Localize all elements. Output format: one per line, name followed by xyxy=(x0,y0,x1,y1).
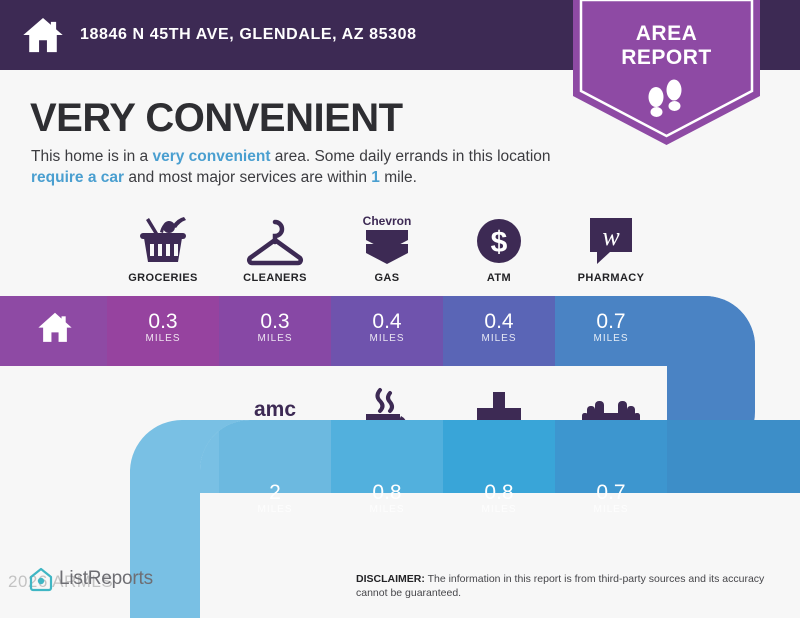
ribbon-segment xyxy=(331,288,443,368)
intro-highlight-1: very convenient xyxy=(152,148,270,165)
ribbon-segment xyxy=(555,288,667,368)
disclaimer-label: DISCLAIMER: xyxy=(356,573,425,585)
category-groceries: GROCERIES xyxy=(107,210,219,284)
category-cleaners: CLEANERS xyxy=(219,210,331,284)
category-label: GROCERIES xyxy=(107,272,219,284)
ribbon-segment xyxy=(219,413,331,493)
ribbon-row-2 xyxy=(200,413,800,493)
ribbon-segment xyxy=(667,413,800,493)
ribbon-segment xyxy=(219,288,331,368)
dollar-circle-icon: $ xyxy=(443,210,555,266)
category-atm: $ ATM xyxy=(443,210,555,284)
intro-text-4: mile. xyxy=(380,169,417,186)
category-label: PHARMACY xyxy=(555,272,667,284)
intro-highlight-2: require a car xyxy=(31,169,124,186)
category-gas: Chevron GAS xyxy=(331,210,443,284)
area-report-badge xyxy=(573,0,760,145)
ribbon-segment xyxy=(443,413,555,493)
category-label: ATM xyxy=(443,272,555,284)
area-report-page: 18846 N 45TH AVE, GLENDALE, AZ 85308 ARE… xyxy=(0,0,800,618)
category-pharmacy: w PHARMACY xyxy=(555,210,667,284)
chevron-gas-logo-icon: Chevron xyxy=(331,210,443,266)
disclaimer: DISCLAIMER: The information in this repo… xyxy=(356,572,776,600)
page-title: VERY CONVENIENT xyxy=(30,96,403,141)
house-icon xyxy=(22,14,64,56)
listreports-logo-text: ListReports xyxy=(59,568,153,590)
ribbon-segment xyxy=(555,413,667,493)
listreports-house-icon xyxy=(28,566,54,592)
intro-text-3: and most major services are within xyxy=(124,169,371,186)
svg-text:w: w xyxy=(602,222,620,251)
grocery-basket-icon xyxy=(107,210,219,266)
intro-paragraph: This home is in a very convenient area. … xyxy=(31,146,591,188)
category-label: CLEANERS xyxy=(219,272,331,284)
property-address: 18846 N 45TH AVE, GLENDALE, AZ 85308 xyxy=(80,26,417,44)
clothes-hanger-icon xyxy=(219,210,331,266)
walgreens-w-icon: w xyxy=(555,210,667,266)
intro-text-2: area. Some daily errands in this locatio… xyxy=(271,148,551,165)
ribbon-segment xyxy=(331,413,443,493)
house-icon xyxy=(36,308,74,346)
category-label: GAS xyxy=(331,272,443,284)
listreports-logo: ListReports xyxy=(28,566,153,592)
svg-text:Chevron: Chevron xyxy=(363,214,412,228)
ribbon-segment xyxy=(443,288,555,368)
intro-highlight-3: 1 xyxy=(371,169,380,186)
intro-text-1: This home is in a xyxy=(31,148,152,165)
ribbon-segment xyxy=(107,288,219,368)
svg-text:$: $ xyxy=(491,226,508,259)
